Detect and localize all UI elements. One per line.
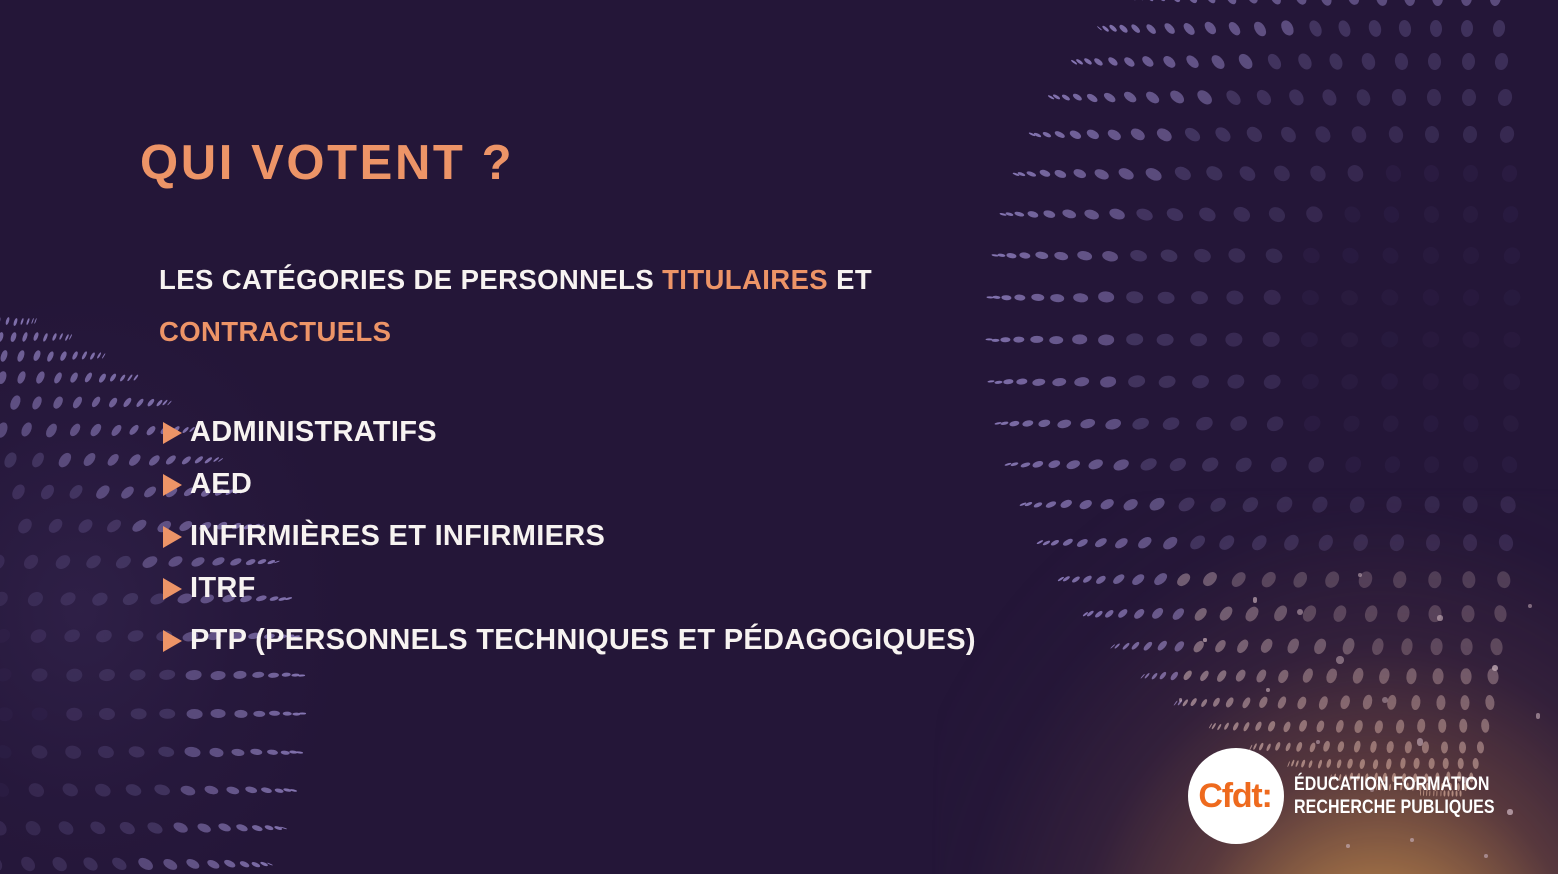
cfdt-logo-line-2: RECHERCHE PUBLIQUES (1294, 796, 1495, 819)
list-item-label: ITRF (190, 572, 256, 605)
page-title: QUI VOTENT ? (140, 137, 514, 191)
slide-subtitle: LES CATÉGORIES DE PERSONNELS TITULAIRES … (159, 254, 1119, 358)
triangle-bullet-icon (163, 630, 182, 652)
cfdt-wordmark: Cfdt: (1198, 779, 1271, 813)
slide-content: QUI VOTENT ? LES CATÉGORIES DE PERSONNEL… (0, 0, 1558, 874)
subtitle-accent-titulaires: TITULAIRES (662, 264, 828, 295)
triangle-bullet-icon (163, 526, 182, 548)
list-item: AED (163, 458, 976, 510)
list-item: PTP (PERSONNELS TECHNIQUES ET PÉDAGOGIQU… (163, 614, 976, 666)
cfdt-logo: Cfdt: ÉDUCATION FORMATION RECHERCHE PUBL… (1188, 748, 1539, 844)
list-item: ITRF (163, 562, 976, 614)
list-item-label: INFIRMIÈRES ET INFIRMIERS (190, 520, 605, 553)
list-item-label: AED (190, 468, 252, 501)
triangle-bullet-icon (163, 422, 182, 444)
slide-canvas: QUI VOTENT ? LES CATÉGORIES DE PERSONNEL… (0, 0, 1558, 874)
category-list: ADMINISTRATIFS AED INFIRMIÈRES ET INFIRM… (163, 406, 976, 666)
cfdt-logo-circle: Cfdt: (1188, 748, 1284, 844)
list-item-label: PTP (PERSONNELS TECHNIQUES ET PÉDAGOGIQU… (190, 624, 976, 657)
list-item: ADMINISTRATIFS (163, 406, 976, 458)
list-item: INFIRMIÈRES ET INFIRMIERS (163, 510, 976, 562)
subtitle-accent-contractuels: CONTRACTUELS (159, 316, 391, 347)
cfdt-logo-line-1: ÉDUCATION FORMATION (1294, 773, 1495, 796)
triangle-bullet-icon (163, 474, 182, 496)
list-item-label: ADMINISTRATIFS (190, 416, 437, 449)
subtitle-part-2: ET (828, 264, 872, 295)
triangle-bullet-icon (163, 578, 182, 600)
subtitle-part-1: LES CATÉGORIES DE PERSONNELS (159, 264, 662, 295)
cfdt-logo-subtitle: ÉDUCATION FORMATION RECHERCHE PUBLIQUES (1294, 773, 1495, 819)
